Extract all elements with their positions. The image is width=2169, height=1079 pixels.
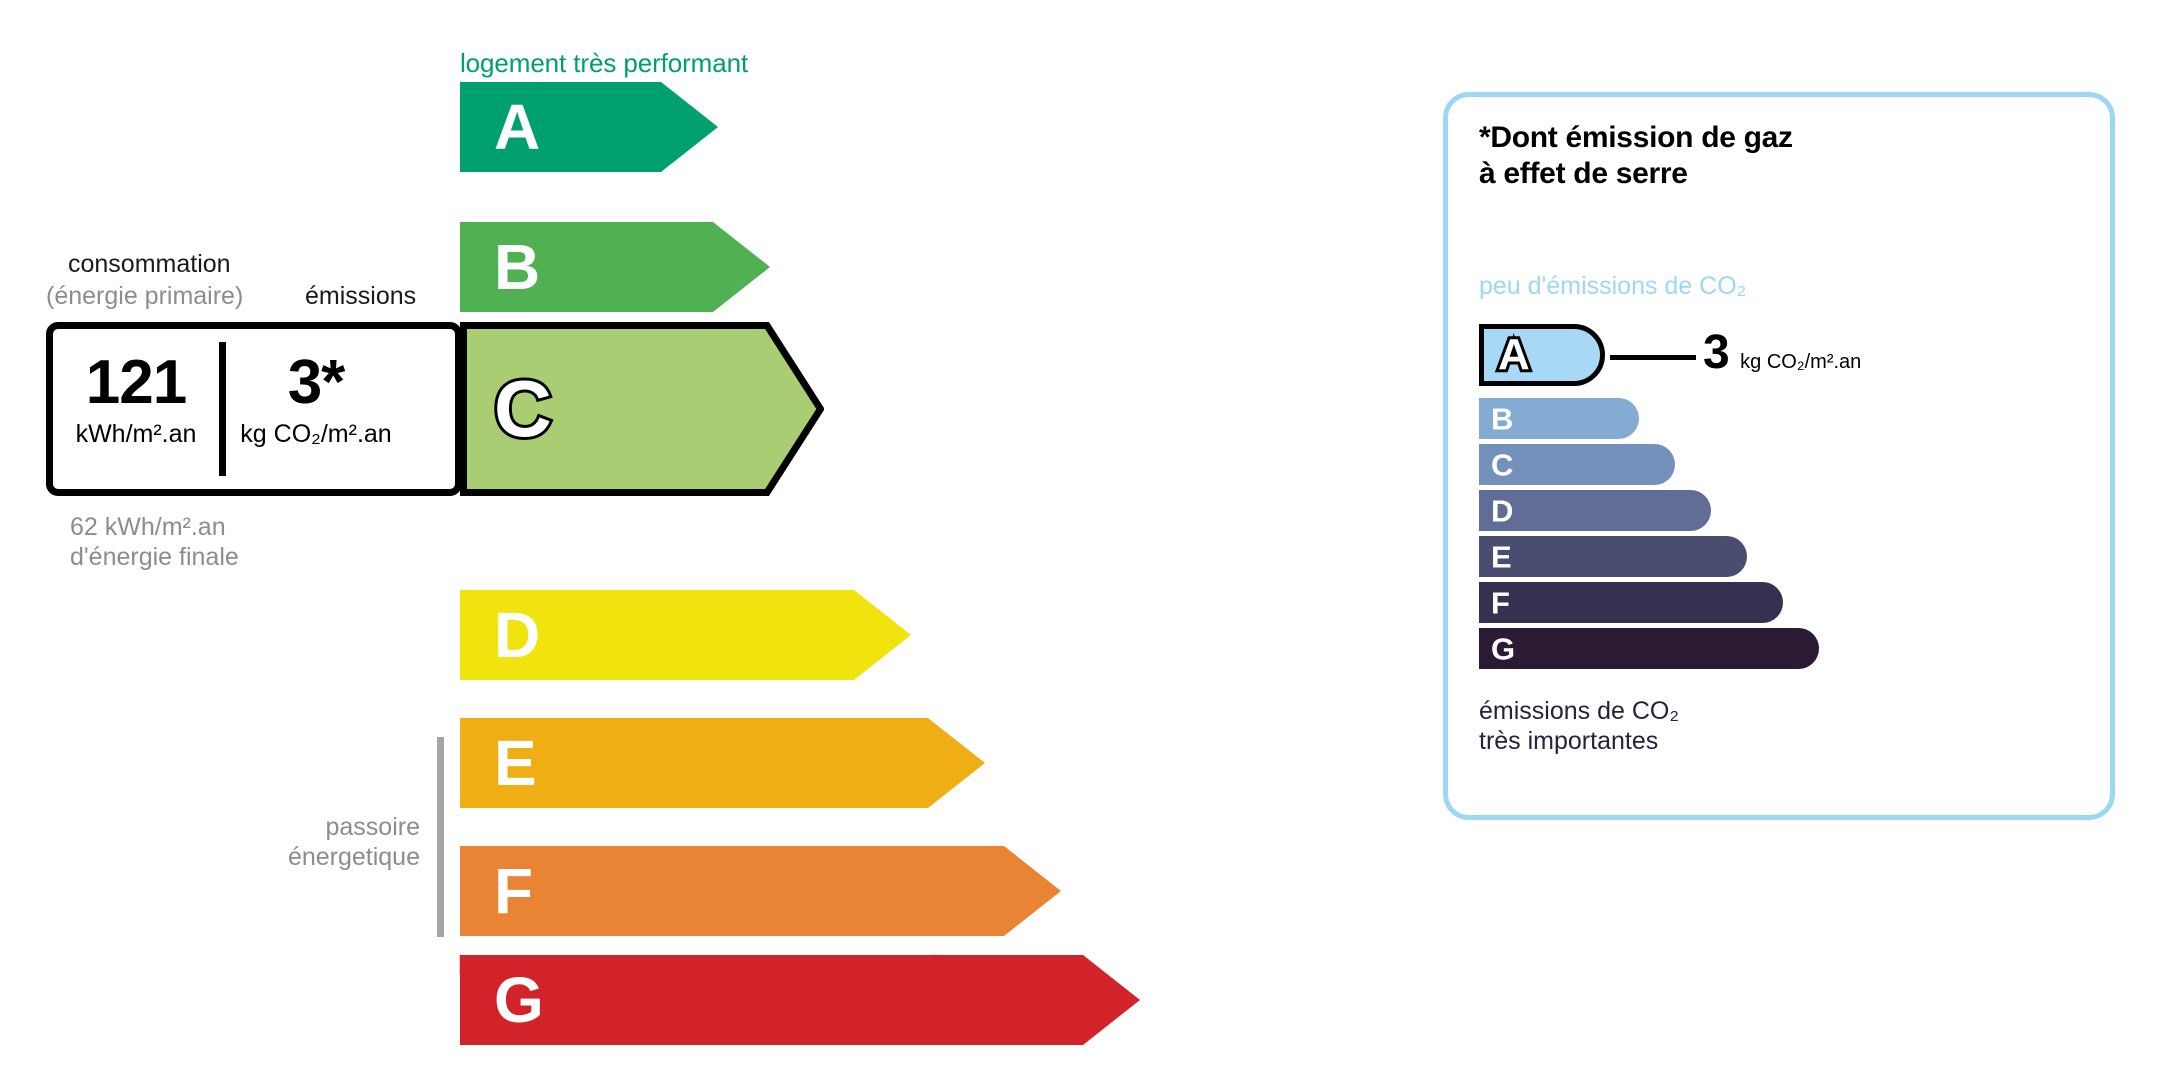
co2-bar-b: B xyxy=(1479,398,1639,439)
passoire-marker-bar xyxy=(437,737,444,937)
emission-unit: kg CO₂/m².an xyxy=(226,418,406,450)
passoire-label: passoire énergetique xyxy=(250,812,420,872)
co2-bar-letter-a: A xyxy=(1498,333,1530,377)
co2-bar-a: A xyxy=(1479,324,1605,386)
co2-value-annotation: 3 kg CO₂/m².an xyxy=(1703,325,1861,380)
co2-bar-letter-b: B xyxy=(1491,403,1513,434)
energy-scale-top-label: logement très performant xyxy=(460,48,748,79)
primary-energy-label: (énergie primaire) xyxy=(46,282,243,311)
co2-connector-line xyxy=(1610,355,1696,360)
co2-bottom-label: émissions de CO₂ très importantes xyxy=(1479,696,1679,756)
primary-energy-unit: kWh/m².an xyxy=(50,418,222,450)
co2-panel-title: *Dont émission de gaz à effet de serre xyxy=(1479,120,1793,192)
energy-band-letter-c: C xyxy=(494,369,552,449)
co2-bar-letter-f: F xyxy=(1491,587,1510,618)
co2-value-number: 3 xyxy=(1703,326,1730,379)
co2-bar-f: F xyxy=(1479,582,1783,623)
emissions-label: émissions xyxy=(305,282,416,311)
energy-band-f: F xyxy=(460,846,1061,936)
energy-band-d: D xyxy=(460,590,911,680)
energy-band-letter-b: B xyxy=(494,235,540,299)
energy-band-c: C xyxy=(460,322,824,496)
energy-band-letter-a: A xyxy=(494,95,540,159)
final-energy-note: 62 kWh/m².an d'énergie finale xyxy=(70,512,239,572)
emission-value-cell: 3* kg CO₂/m².an xyxy=(226,348,406,450)
primary-energy-value: 121 xyxy=(50,348,222,418)
energy-scale-bottom-label: logement extrêmement consommateur d'éner… xyxy=(458,950,1012,981)
co2-top-label: peu d'émissions de CO₂ xyxy=(1479,272,1746,301)
co2-bar-g: G xyxy=(1479,628,1819,669)
dpe-diagram: logement très performant consommation (é… xyxy=(0,0,2169,1079)
co2-bar-d: D xyxy=(1479,490,1711,531)
energy-band-b: B xyxy=(460,222,770,312)
co2-bar-c: C xyxy=(1479,444,1675,485)
energy-band-letter-e: E xyxy=(494,731,537,795)
co2-bar-letter-d: D xyxy=(1491,495,1513,526)
consumption-label: consommation xyxy=(68,250,231,279)
co2-bar-letter-c: C xyxy=(1491,449,1513,480)
co2-bar-e: E xyxy=(1479,536,1747,577)
co2-bar-letter-e: E xyxy=(1491,541,1512,572)
co2-bar-letter-g: G xyxy=(1491,633,1515,664)
energy-band-letter-f: F xyxy=(494,859,533,923)
co2-value-unit: kg CO₂/m².an xyxy=(1740,351,1861,373)
energy-band-e: E xyxy=(460,718,985,808)
energy-band-letter-d: D xyxy=(494,603,540,667)
primary-energy-value-cell: 121 kWh/m².an xyxy=(50,348,222,450)
emission-value: 3* xyxy=(226,348,406,418)
energy-band-a: A xyxy=(460,82,718,172)
